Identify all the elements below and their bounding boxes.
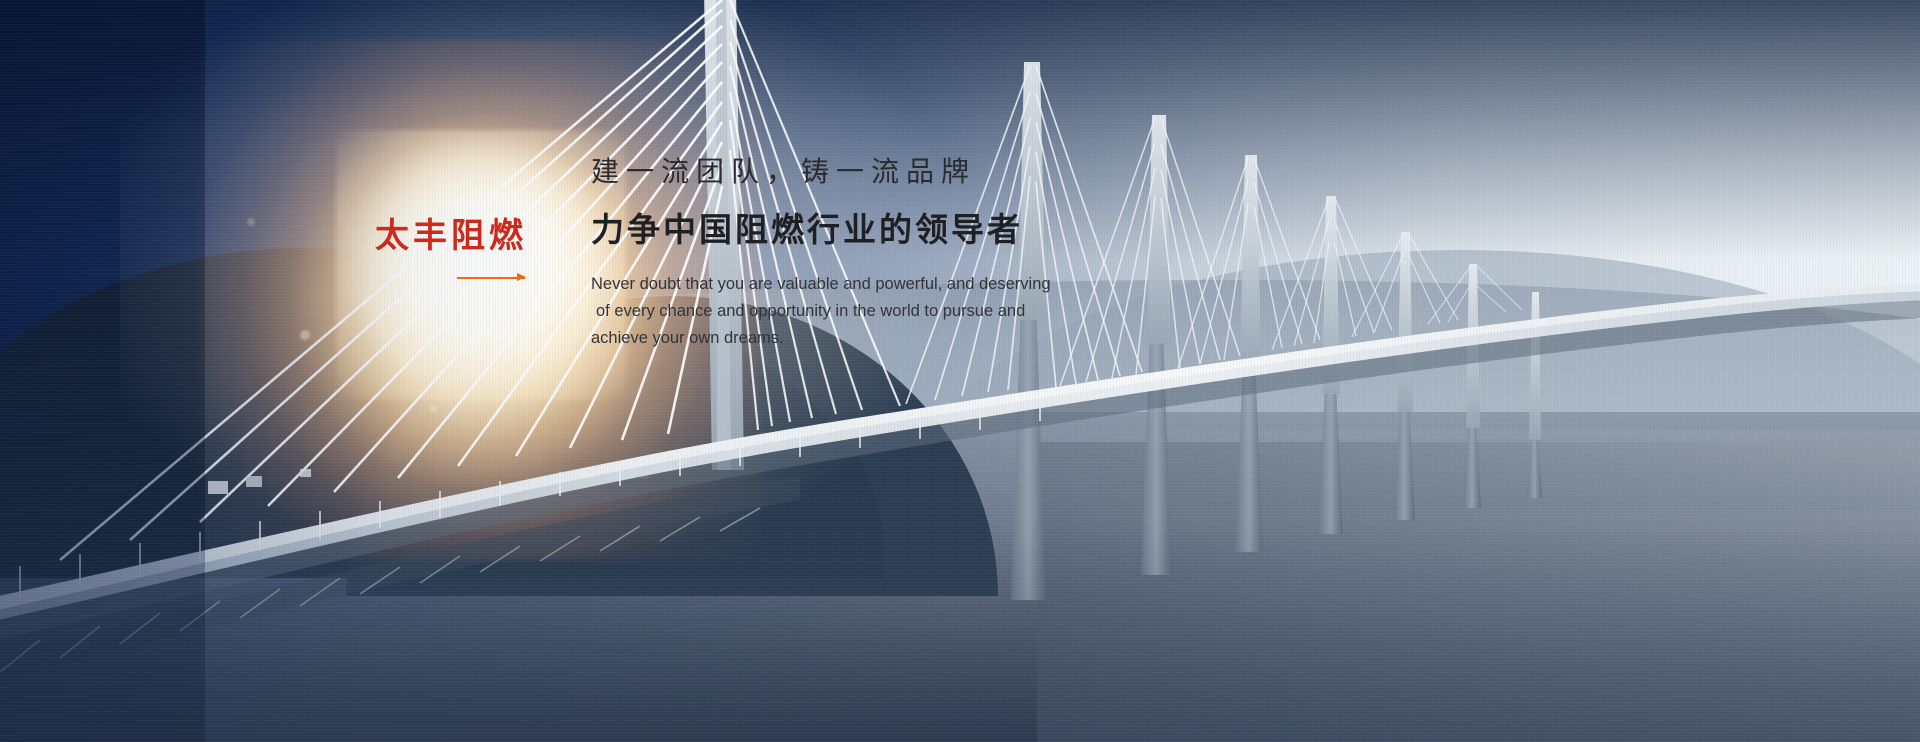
- subtext-line-3: achieve your own dreams.: [591, 325, 1061, 352]
- banner-content: 太丰阻燃 建一流团队，铸一流品牌 力争中国阻燃行业的领导者 Never doub…: [0, 0, 1920, 742]
- headline-primary: 建一流团队，铸一流品牌: [591, 155, 1111, 189]
- headline-secondary: 力争中国阻燃行业的领导者: [591, 210, 1111, 250]
- banner-text-block: 建一流团队，铸一流品牌 力争中国阻燃行业的领导者 Never doubt tha…: [591, 155, 1111, 351]
- hero-banner: 太丰阻燃 建一流团队，铸一流品牌 力争中国阻燃行业的领导者 Never doub…: [0, 0, 1920, 742]
- subtext-line-1: Never doubt that you are valuable and po…: [591, 271, 1061, 298]
- brand-name: 太丰阻燃: [375, 218, 535, 255]
- brand-logo: 太丰阻燃: [375, 218, 535, 279]
- banner-subtext: Never doubt that you are valuable and po…: [591, 271, 1061, 351]
- arrow-right-icon: [457, 277, 525, 279]
- subtext-line-2: of every chance and opportunity in the w…: [591, 298, 1061, 325]
